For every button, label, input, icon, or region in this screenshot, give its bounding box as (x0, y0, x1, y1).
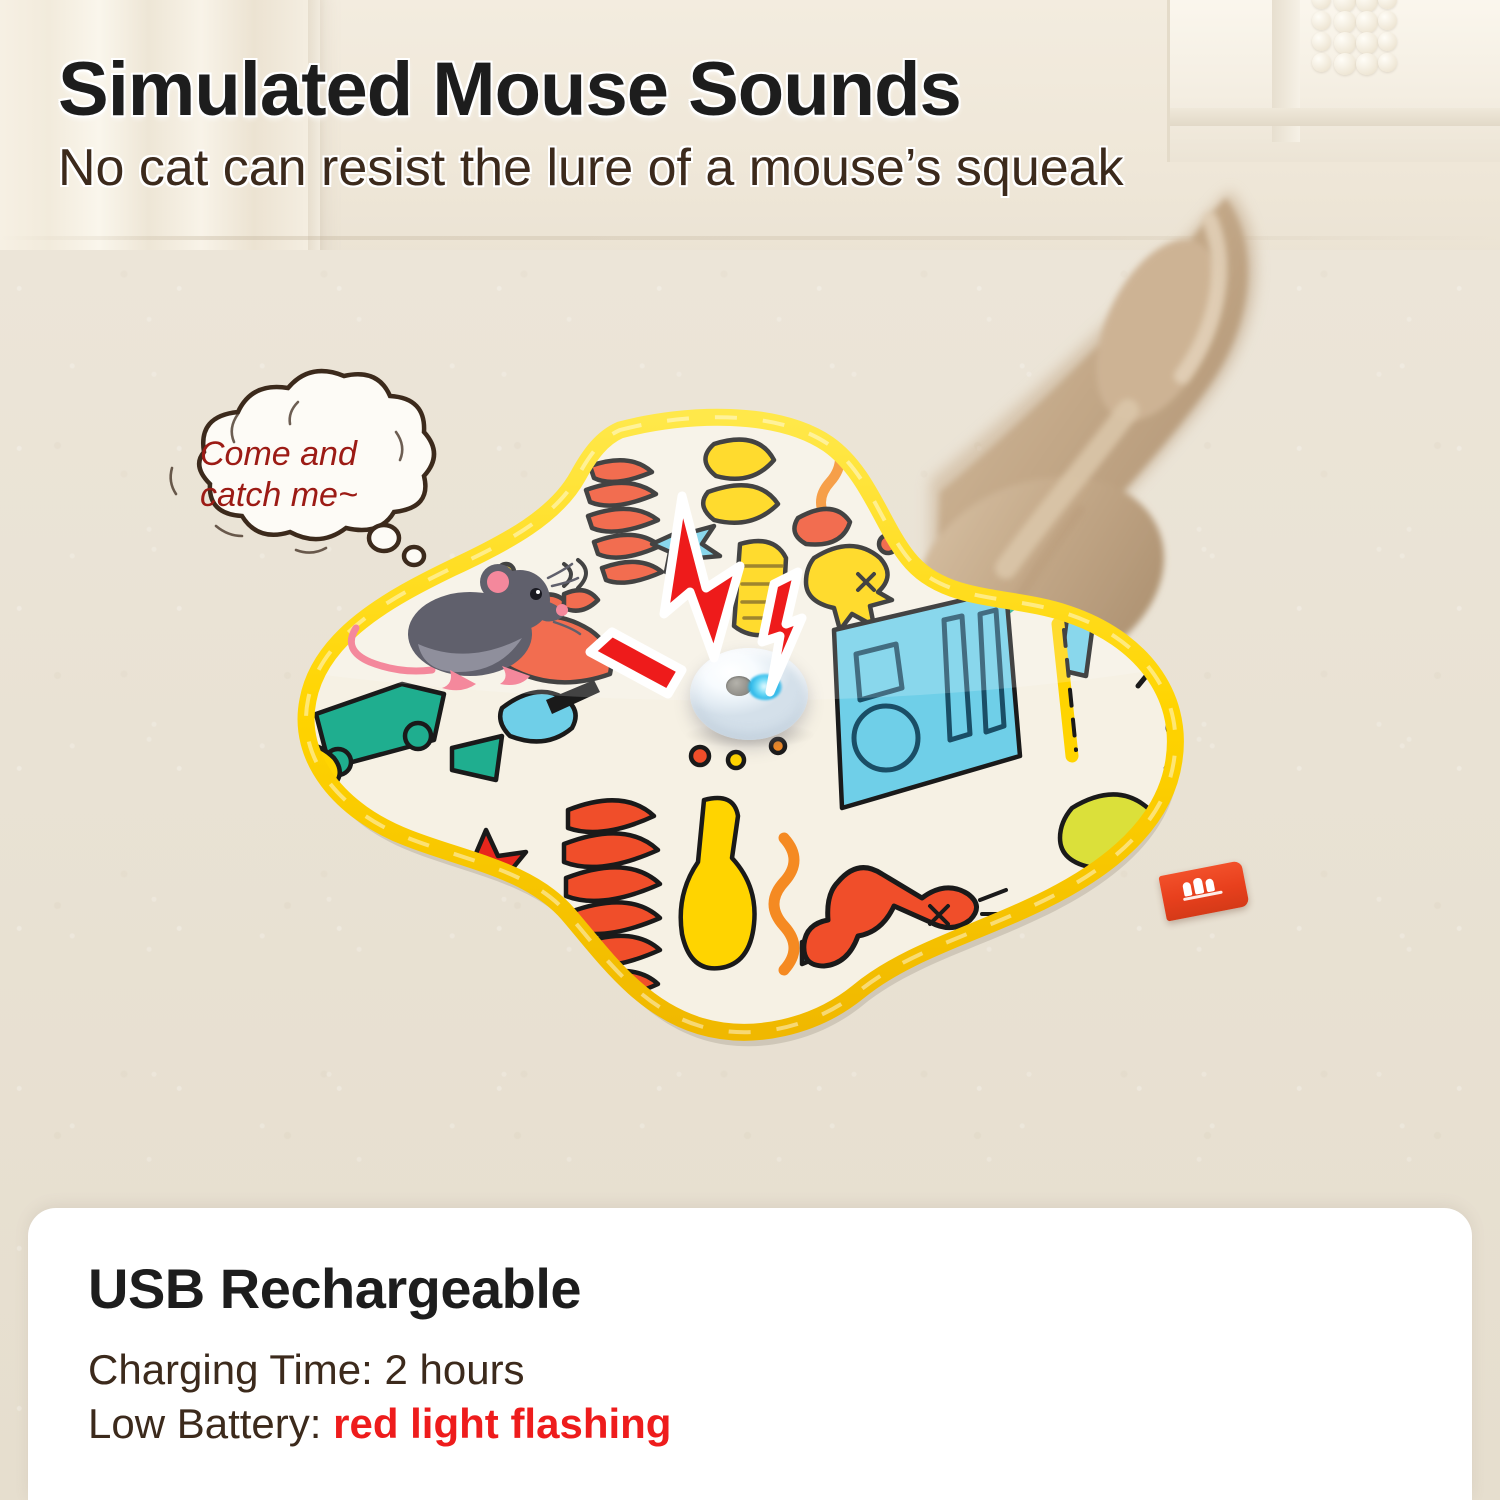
product-infographic: Simulated Mouse Sounds No cat can resist… (0, 0, 1500, 1500)
thought-bubble: Come andcatch me~ (146, 392, 456, 567)
page-title: Simulated Mouse Sounds (58, 52, 1388, 128)
low-battery-label: Low Battery: (88, 1400, 333, 1447)
sound-burst-rays (560, 480, 900, 710)
low-battery-highlight: red light flashing (333, 1400, 671, 1447)
brand-logo-icon (1178, 873, 1227, 903)
charging-time-text: Charging Time: 2 hours (88, 1346, 525, 1394)
usb-rechargeable-panel: USB Rechargeable Charging Time: 2 hours … (28, 1208, 1472, 1500)
headline-block: Simulated Mouse Sounds No cat can resist… (58, 52, 1388, 196)
mouse-illustration (352, 548, 572, 693)
low-battery-text: Low Battery: red light flashing (88, 1400, 671, 1448)
thought-bubble-text: Come andcatch me~ (200, 434, 430, 517)
panel-title: USB Rechargeable (88, 1256, 581, 1321)
